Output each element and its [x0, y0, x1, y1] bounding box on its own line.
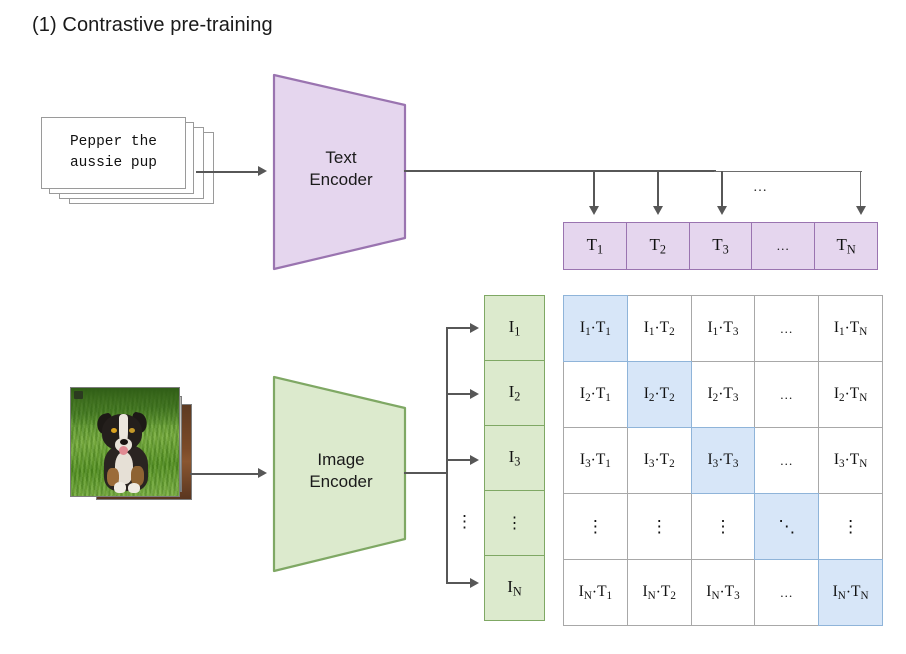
- cell-image-term: IN: [579, 583, 592, 602]
- arrow-caption-to-text-encoder-head: [258, 166, 267, 176]
- similarity-cell-r2-c5[interactable]: I2·TN: [818, 361, 883, 428]
- cell-text-term: T3: [723, 385, 738, 404]
- dog-eye-left: [111, 428, 117, 433]
- text-drop-line-n: [860, 171, 861, 207]
- image-branch-arrow-2: [470, 389, 479, 399]
- text-bus-ellipsis: …: [753, 180, 768, 196]
- similarity-cell-r1-c1[interactable]: I1·T1: [563, 295, 628, 362]
- cell-text-term: T3: [725, 583, 740, 602]
- similarity-cell-r1-c2[interactable]: I1·T2: [627, 295, 692, 362]
- image-branch-ellipsis: ⋮: [456, 512, 474, 532]
- arrow-caption-to-text-encoder-line: [196, 171, 258, 173]
- dog-tongue: [119, 446, 128, 455]
- image-encoder[interactable]: Image Encoder: [270, 372, 412, 576]
- similarity-cell-r1-c4[interactable]: …: [754, 295, 819, 362]
- image-stack-front-photo: [70, 387, 180, 497]
- similarity-cell-r3-c5[interactable]: I3·TN: [818, 427, 883, 494]
- similarity-cell-r3-c1[interactable]: I3·T1: [563, 427, 628, 494]
- text-embedding-cell-n[interactable]: TN: [814, 222, 878, 270]
- image-branch-line-2: [446, 393, 472, 395]
- image-branch-arrow-1: [470, 323, 479, 333]
- image-embedding-cell-3[interactable]: I3: [484, 425, 545, 491]
- image-embedding-cell-ellipsis: ⋮: [484, 490, 545, 556]
- cell-image-term: I2: [708, 385, 719, 404]
- cell-text-term: T1: [597, 583, 612, 602]
- cell-text-term: T1: [596, 385, 611, 404]
- similarity-cell-r4-c2[interactable]: ⋮: [627, 493, 692, 560]
- image-embedding-trunk: [446, 328, 448, 584]
- cell-image-term: I1: [708, 319, 719, 338]
- cell-image-term: IN: [833, 583, 846, 602]
- similarity-cell-r5-c5[interactable]: IN·TN: [818, 559, 883, 626]
- cell-image-term: I3: [834, 451, 845, 470]
- cell-image-term: I3: [708, 451, 719, 470]
- similarity-cell-r3-c2[interactable]: I3·T2: [627, 427, 692, 494]
- tn-label: TN: [836, 235, 855, 257]
- text-embedding-cell-1[interactable]: T1: [563, 222, 627, 270]
- image-branch-arrow-3: [470, 455, 479, 465]
- cell-image-term: I2: [834, 385, 845, 404]
- text-embedding-cell-ellipsis: …: [751, 222, 815, 270]
- photo-corner-mark: [74, 391, 83, 399]
- image-branch-arrow-n: [470, 578, 479, 588]
- similarity-cell-r5-c1[interactable]: IN·T1: [563, 559, 628, 626]
- cell-image-term: I3: [580, 451, 591, 470]
- text-drop-line-3: [721, 171, 723, 207]
- image-encoder-shape: [270, 372, 412, 576]
- page-title: (1) Contrastive pre-training: [32, 14, 273, 37]
- text-embedding-cell-2[interactable]: T2: [626, 222, 690, 270]
- arrow-image-to-image-encoder-line: [190, 473, 258, 475]
- similarity-cell-r3-c3[interactable]: I3·T3: [691, 427, 756, 494]
- text-encoder-shape: [270, 70, 412, 274]
- similarity-cell-r5-c4[interactable]: …: [754, 559, 819, 626]
- caption-card-front: [41, 117, 186, 189]
- image-embedding-cell-n[interactable]: IN: [484, 555, 545, 621]
- t3-label: T3: [712, 235, 729, 257]
- cell-text-term: TN: [851, 583, 869, 602]
- similarity-cell-r3-c4[interactable]: …: [754, 427, 819, 494]
- image-embedding-cell-1[interactable]: I1: [484, 295, 545, 361]
- cell-image-term: IN: [642, 583, 655, 602]
- i2-label: I2: [509, 382, 521, 404]
- arrow-image-to-image-encoder-head: [258, 468, 267, 478]
- similarity-cell-r4-c3[interactable]: ⋮: [691, 493, 756, 560]
- similarity-cell-r5-c3[interactable]: IN·T3: [691, 559, 756, 626]
- i1-label: I1: [509, 317, 521, 339]
- cell-text-term: T2: [660, 451, 675, 470]
- image-branch-line-1: [446, 327, 472, 329]
- cell-text-term: T3: [723, 319, 738, 338]
- text-embedding-bus-main: [404, 170, 716, 172]
- dog-paw-right: [128, 483, 140, 493]
- cell-text-term: TN: [850, 385, 868, 404]
- text-encoder[interactable]: Text Encoder: [270, 70, 412, 274]
- dog-nose: [120, 439, 128, 445]
- diagram-canvas: (1) Contrastive pre-training Pepper the …: [0, 0, 906, 654]
- dog-paw-left: [114, 482, 126, 493]
- text-drop-line-1: [593, 171, 595, 207]
- cell-text-term: T2: [660, 319, 675, 338]
- dog-eye-right: [129, 428, 135, 433]
- text-embedding-cell-3[interactable]: T3: [689, 222, 753, 270]
- cell-text-term: T1: [596, 451, 611, 470]
- similarity-cell-r2-c3[interactable]: I2·T3: [691, 361, 756, 428]
- similarity-cell-r4-c5[interactable]: ⋮: [818, 493, 883, 560]
- image-embedding-cell-2[interactable]: I2: [484, 360, 545, 426]
- similarity-cell-r4-c1[interactable]: ⋮: [563, 493, 628, 560]
- image-branch-line-n: [446, 582, 472, 584]
- similarity-cell-r4-c4[interactable]: ⋱: [754, 493, 819, 560]
- cell-image-term: IN: [706, 583, 719, 602]
- image-embedding-bus-main: [404, 472, 448, 474]
- t-ellipsis-label: …: [776, 238, 790, 254]
- text-drop-line-2: [657, 171, 659, 207]
- cell-text-term: TN: [850, 451, 868, 470]
- similarity-cell-r2-c2[interactable]: I2·T2: [627, 361, 692, 428]
- cell-text-term: TN: [850, 319, 868, 338]
- i-ellipsis-label: ⋮: [507, 513, 523, 533]
- text-embedding-bus-extension: [714, 171, 862, 172]
- cell-text-term: T3: [723, 451, 738, 470]
- similarity-cell-r2-c1[interactable]: I2·T1: [563, 361, 628, 428]
- cell-image-term: I1: [580, 319, 591, 338]
- cell-text-term: T1: [596, 319, 611, 338]
- i3-label: I3: [509, 447, 521, 469]
- cell-text-term: T2: [661, 583, 676, 602]
- text-drop-arrow-3: [717, 206, 727, 215]
- t1-label: T1: [587, 235, 604, 257]
- similarity-cell-r5-c2[interactable]: IN·T2: [627, 559, 692, 626]
- image-embedding-column: I1 I2 I3 ⋮ IN: [484, 295, 545, 621]
- cell-image-term: I2: [580, 385, 591, 404]
- in-label: IN: [507, 577, 522, 599]
- cell-image-term: I2: [644, 385, 655, 404]
- cell-image-term: I3: [644, 451, 655, 470]
- cell-text-term: T2: [660, 385, 675, 404]
- image-branch-line-3: [446, 459, 472, 461]
- similarity-cell-r1-c3[interactable]: I1·T3: [691, 295, 756, 362]
- similarity-cell-r1-c5[interactable]: I1·TN: [818, 295, 883, 362]
- text-drop-arrow-n: [856, 206, 866, 215]
- similarity-matrix: I1·T1I1·T2I1·T3…I1·TNI2·T1I2·T2I2·T3…I2·…: [563, 295, 882, 625]
- cell-image-term: I1: [644, 319, 655, 338]
- text-drop-arrow-1: [589, 206, 599, 215]
- cell-image-term: I1: [834, 319, 845, 338]
- t2-label: T2: [649, 235, 666, 257]
- similarity-cell-r2-c4[interactable]: …: [754, 361, 819, 428]
- text-embedding-row: T1 T2 T3 … TN: [563, 222, 878, 270]
- text-drop-arrow-2: [653, 206, 663, 215]
